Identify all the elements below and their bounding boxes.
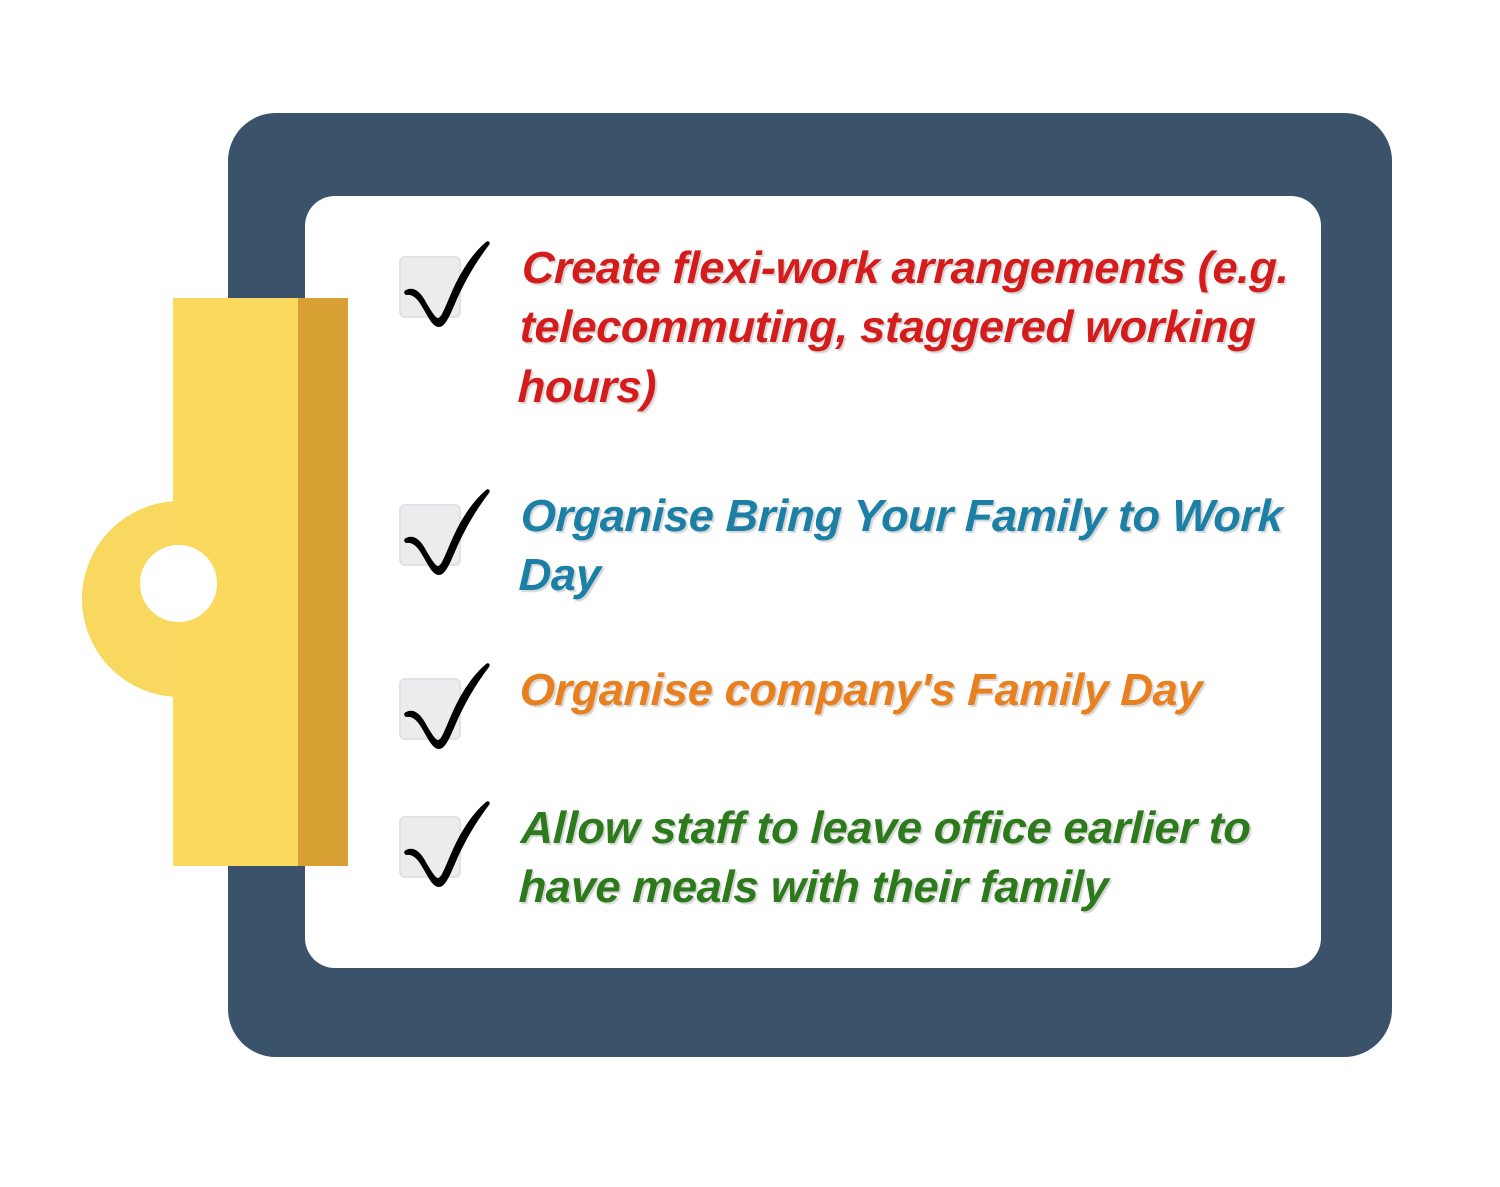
checkbox-checked-icon bbox=[392, 656, 496, 760]
checklist-item[interactable]: Allow staff to leave office earlier to h… bbox=[390, 794, 1310, 917]
clip-hole bbox=[140, 545, 217, 622]
checklist-item-label: Allow staff to leave office earlier to h… bbox=[518, 794, 1312, 917]
checklist-item[interactable]: Organise company's Family Day bbox=[390, 656, 1310, 766]
checkbox-cell[interactable] bbox=[390, 234, 520, 344]
checkbox-checked-icon bbox=[392, 482, 496, 586]
checklist-item[interactable]: Organise Bring Your Family to Work Day bbox=[390, 482, 1310, 605]
checklist: Create flexi-work arrangements (e.g. tel… bbox=[305, 196, 1321, 968]
checklist-item-label: Organise company's Family Day bbox=[519, 656, 1311, 719]
checkbox-cell[interactable] bbox=[390, 794, 520, 904]
checklist-item-label: Organise Bring Your Family to Work Day bbox=[518, 482, 1312, 605]
checklist-item-label: Create flexi-work arrangements (e.g. tel… bbox=[517, 234, 1313, 416]
checkbox-checked-icon bbox=[392, 794, 496, 898]
checkbox-cell[interactable] bbox=[390, 656, 520, 766]
clipboard-checklist-graphic: Create flexi-work arrangements (e.g. tel… bbox=[0, 0, 1500, 1187]
checkbox-cell[interactable] bbox=[390, 482, 520, 592]
checklist-item[interactable]: Create flexi-work arrangements (e.g. tel… bbox=[390, 234, 1310, 416]
checkbox-checked-icon bbox=[392, 234, 496, 338]
